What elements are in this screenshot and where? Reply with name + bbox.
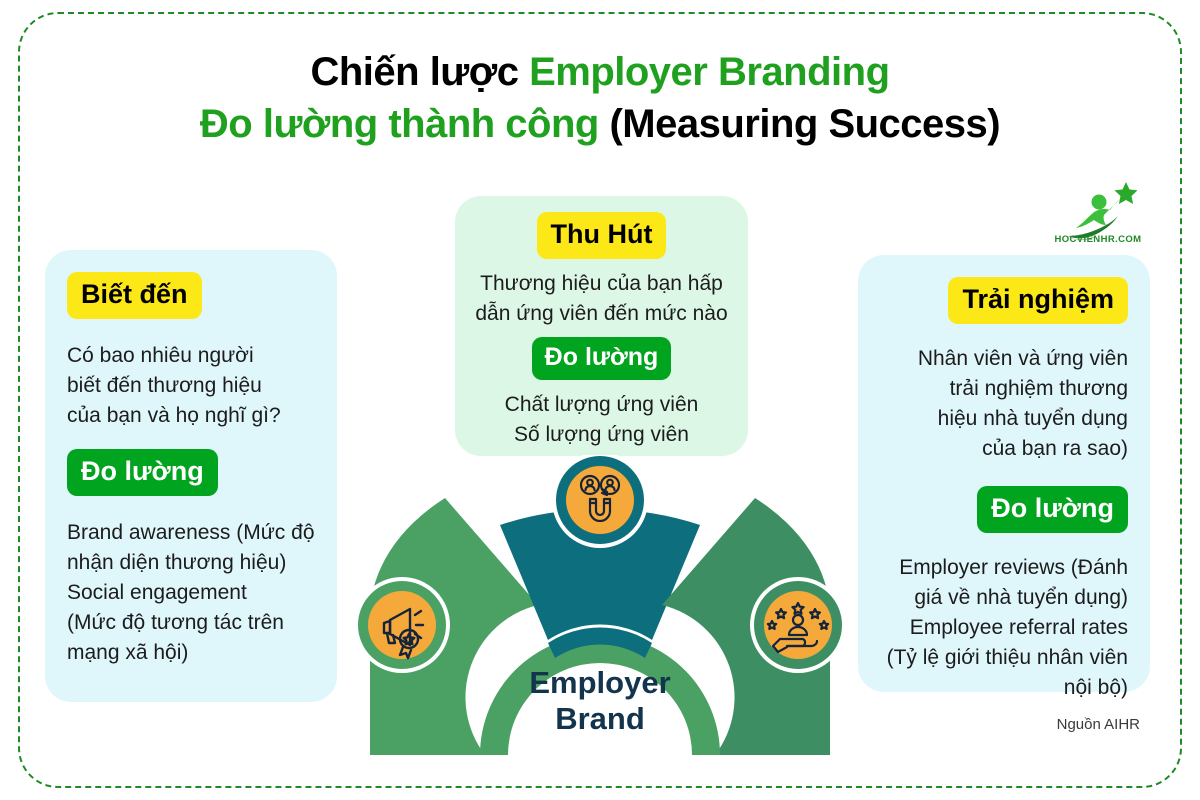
spacer bbox=[473, 380, 730, 390]
attraction-metrics: Chất lượng ứng viên Số lượng ứng viên bbox=[473, 390, 730, 450]
badge-attraction-measure: Đo lường bbox=[532, 337, 672, 380]
experience-question: Nhân viên và ứng viên trải nghiệm thương… bbox=[880, 344, 1128, 464]
title-line-2-black: (Measuring Success) bbox=[599, 102, 1000, 146]
title-line-2: Đo lường thành công (Measuring Success) bbox=[0, 98, 1200, 150]
card-experience: Trải nghiệm Nhân viên và ứng viên trải n… bbox=[858, 255, 1150, 692]
card-awareness: Biết đến Có bao nhiêu người biết đến thư… bbox=[45, 250, 337, 702]
logo-wordmark: HOCVIENHR.COM bbox=[1038, 234, 1158, 245]
source-attribution: Nguồn AIHR bbox=[960, 716, 1140, 733]
awareness-question: Có bao nhiêu người biết đến thương hiệu … bbox=[67, 341, 315, 431]
icon-circle-attraction bbox=[552, 455, 648, 548]
spacer bbox=[67, 496, 315, 518]
title-line-1-black: Chiến lược bbox=[310, 50, 529, 94]
experience-metrics: Employer reviews (Đánh giá về nhà tuyển … bbox=[880, 553, 1128, 703]
title-line-1: Chiến lược Employer Branding bbox=[0, 46, 1200, 98]
employer-brand-label: Employer Brand bbox=[340, 665, 860, 737]
badge-attraction-title: Thu Hút bbox=[537, 212, 667, 259]
spacer bbox=[880, 533, 1128, 553]
spacer bbox=[67, 431, 315, 449]
person-reaching-star-icon bbox=[1068, 182, 1138, 240]
badge-awareness-title: Biết đến bbox=[67, 272, 202, 319]
badge-awareness-measure: Đo lường bbox=[67, 449, 218, 496]
spacer bbox=[473, 259, 730, 269]
spacer bbox=[67, 319, 315, 341]
title-line-2-green: Đo lường thành công bbox=[200, 102, 599, 146]
badge-experience-title: Trải nghiệm bbox=[948, 277, 1128, 324]
awareness-metrics: Brand awareness (Mức độ nhận diện thương… bbox=[67, 518, 315, 668]
spacer bbox=[473, 329, 730, 337]
icon-circle-awareness bbox=[354, 577, 450, 673]
page-title: Chiến lược Employer Branding Đo lường th… bbox=[0, 46, 1200, 150]
infographic-canvas: Chiến lược Employer Branding Đo lường th… bbox=[0, 0, 1200, 800]
card-attraction: Thu Hút Thương hiệu của bạn hấp dẫn ứng … bbox=[455, 196, 748, 456]
badge-experience-measure: Đo lường bbox=[977, 486, 1128, 533]
icon-circle-experience bbox=[750, 577, 846, 673]
title-line-1-green: Employer Branding bbox=[529, 50, 889, 94]
attraction-question: Thương hiệu của bạn hấp dẫn ứng viên đến… bbox=[473, 269, 730, 329]
spacer bbox=[880, 324, 1128, 344]
spacer bbox=[880, 464, 1128, 486]
